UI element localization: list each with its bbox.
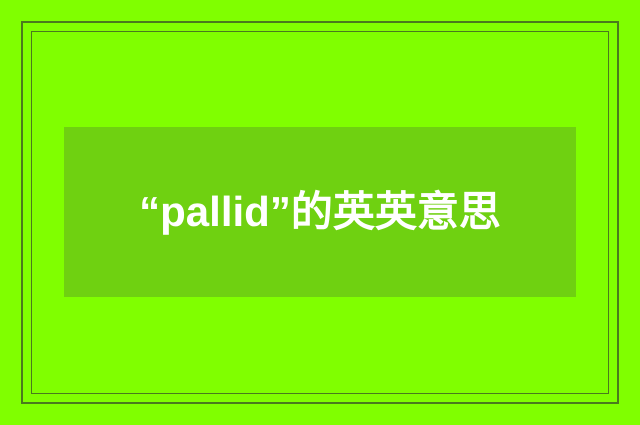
title-card-canvas: “pallid”的英英意思 <box>0 0 640 425</box>
page-title: “pallid”的英英意思 <box>85 181 555 243</box>
title-panel: “pallid”的英英意思 <box>64 127 576 297</box>
